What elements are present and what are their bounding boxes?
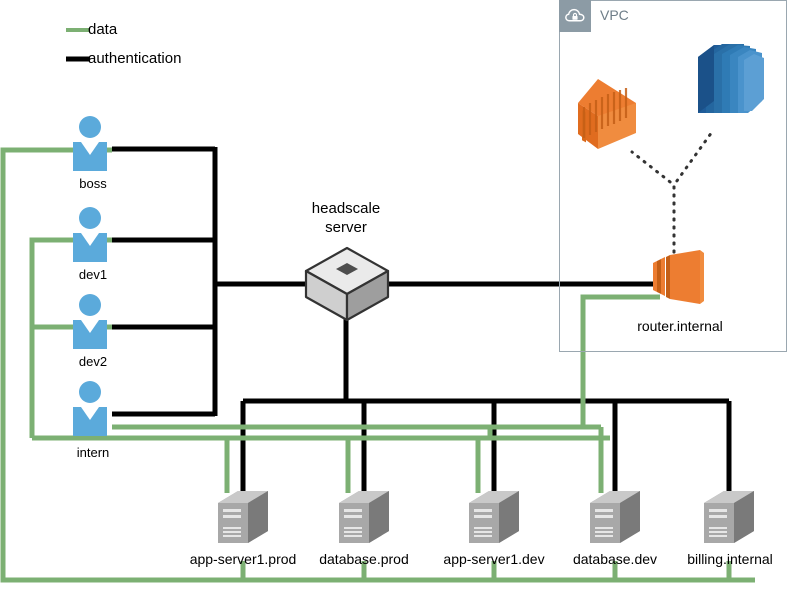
- server-3d-icon: [337, 489, 391, 547]
- user-icon: [70, 381, 116, 436]
- server-3d-icon: [467, 489, 521, 547]
- aws-router-orange-icon: [652, 249, 708, 309]
- label-headscale-line1: headscale: [290, 199, 402, 218]
- label-user-dev1: dev1: [50, 267, 136, 283]
- node-user-dev1[interactable]: [70, 207, 116, 267]
- node-server-billing-internal[interactable]: [702, 489, 756, 552]
- aws-database-blue-icon: [684, 41, 770, 131]
- server-3d-icon: [216, 489, 270, 547]
- cloud-lock-icon: [564, 5, 586, 27]
- server-3d-icon: [702, 489, 756, 547]
- aws-instances-orange-icon: [576, 71, 646, 153]
- label-user-intern: intern: [50, 445, 136, 461]
- label-server-app-server1-dev: app-server1.dev: [426, 551, 562, 567]
- label-headscale-line2: server: [290, 218, 402, 237]
- label-server-database-dev: database.dev: [555, 551, 675, 567]
- node-vpc-database-stack[interactable]: [684, 41, 770, 136]
- vpc-title: VPC: [600, 7, 629, 23]
- node-server-app-server1-prod[interactable]: [216, 489, 270, 552]
- user-icon: [70, 294, 116, 349]
- node-server-database-dev[interactable]: [588, 489, 642, 552]
- node-user-boss[interactable]: [70, 116, 116, 176]
- vpc-badge: [559, 0, 591, 32]
- label-user-dev2: dev2: [50, 354, 136, 370]
- legend-label-data: data: [88, 21, 117, 38]
- node-server-database-prod[interactable]: [337, 489, 391, 552]
- user-icon: [70, 116, 116, 171]
- legend-label-authentication: authentication: [88, 50, 181, 67]
- label-server-database-prod: database.prod: [300, 551, 428, 567]
- label-server-billing-internal: billing.internal: [668, 551, 792, 567]
- network-diagram-canvas: data authentication boss dev1 dev2: [0, 0, 792, 593]
- node-router-internal[interactable]: [652, 249, 708, 314]
- label-router-internal: router.internal: [608, 318, 752, 334]
- cube-3d-icon: [303, 246, 391, 322]
- node-user-dev2[interactable]: [70, 294, 116, 354]
- node-headscale-server[interactable]: [303, 246, 391, 327]
- label-user-boss: boss: [50, 176, 136, 192]
- user-icon: [70, 207, 116, 262]
- node-vpc-compute-stack[interactable]: [576, 71, 646, 158]
- node-user-intern[interactable]: [70, 381, 116, 441]
- server-3d-icon: [588, 489, 642, 547]
- node-server-app-server1-dev[interactable]: [467, 489, 521, 552]
- label-server-app-server1-prod: app-server1.prod: [173, 551, 313, 567]
